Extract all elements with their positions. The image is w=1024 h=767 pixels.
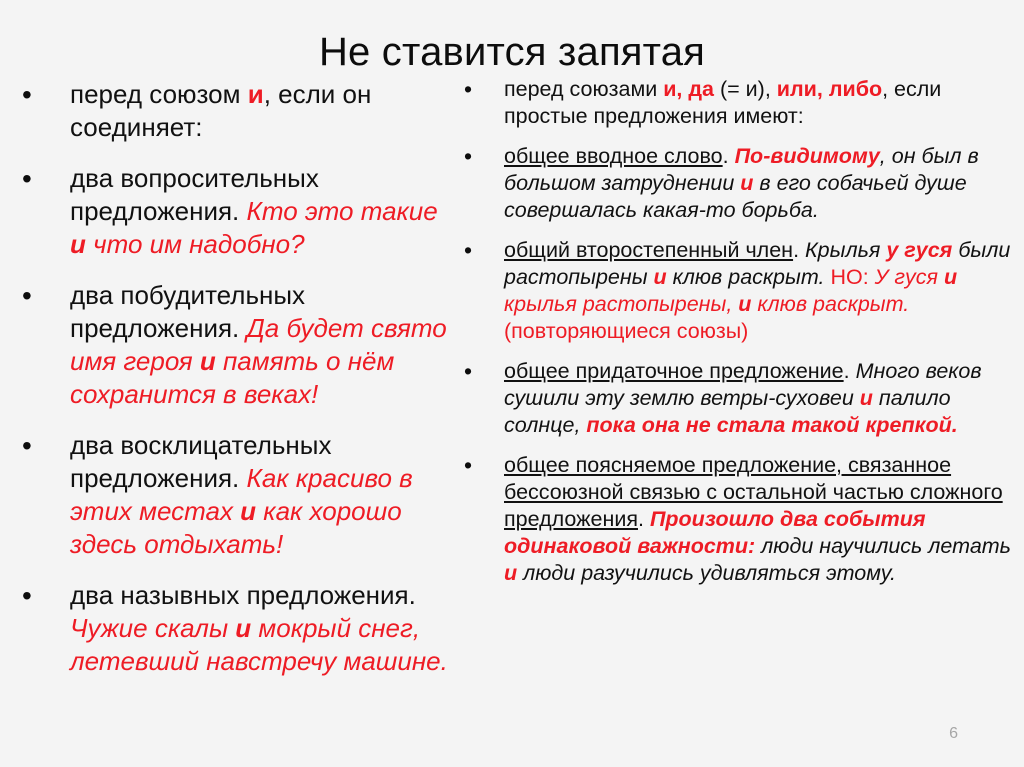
text-segment: . [638,507,650,531]
text-segment: клюв раскрыт. [751,292,909,316]
bullet-point-icon: • [14,78,70,111]
text-segment: Крылья [805,238,886,262]
text-segment: крылья растопырены, [504,292,738,316]
bullet-item: •общее придаточное предложение. Много ве… [456,358,1016,439]
text-segment: (= и), [714,77,777,101]
bullet-column-right: •перед союзами и, да (= и), или, либо, е… [456,76,1016,600]
text-segment: пока она не стала такой крепкой. [586,413,957,437]
bullet-point-icon: • [14,162,70,195]
bullet-point-icon: • [14,579,70,612]
bullet-item: •общий второстепенный член. Крылья у гус… [456,237,1016,345]
text-segment: и [653,265,666,289]
text-segment: общее придаточное предложение [504,359,844,383]
text-segment: люди разучились удивляться этому. [517,561,896,585]
text-segment: Кто это такие [247,196,438,226]
text-segment: люди научились летать [755,534,1011,558]
bullet-text: два побудительных предложения. Да будет … [70,279,458,411]
text-segment: и [70,229,86,259]
text-segment: У гуся [875,265,944,289]
bullet-item: •два побудительных предложения. Да будет… [14,279,458,411]
bullet-text: общее придаточное предложение. Много век… [504,358,1016,439]
text-segment: и [740,171,753,195]
text-segment: и [240,496,256,526]
bullet-item: •общее поясняемое предложение, связанное… [456,452,1016,587]
text-segment: и [860,386,873,410]
bullet-text: два восклицательных предложения. Как кра… [70,429,458,561]
page-number: 6 [949,725,958,743]
bullet-item: •перед союзом и, если он соединяет: [14,78,458,144]
bullet-item: •два назывных предложения. Чужие скалы и… [14,579,458,678]
text-segment: клюв раскрыт. [667,265,831,289]
bullet-item: •перед союзами и, да (= и), или, либо, е… [456,76,1016,130]
text-segment: . [723,144,735,168]
text-segment: или, либо [777,77,882,101]
text-segment: и [944,265,957,289]
bullet-point-icon: • [456,76,504,103]
bullet-text: перед союзом и, если он соединяет: [70,78,458,144]
bullet-point-icon: • [14,279,70,312]
text-segment: что им надобно? [86,229,305,259]
bullet-column-left: •перед союзом и, если он соединяет:•два … [14,78,458,696]
text-segment: и [248,79,264,109]
text-segment: и [738,292,751,316]
bullet-text: два вопросительных предложения. Кто это … [70,162,458,261]
text-segment: перед союзами [504,77,663,101]
text-segment: перед союзом [70,79,248,109]
text-segment: и, да [663,77,714,101]
bullet-text: общее поясняемое предложение, связанное … [504,452,1016,587]
text-segment: НО: [830,265,874,289]
text-segment: и [200,346,216,376]
slide: Не ставится запятая •перед союзом и, есл… [0,0,1024,767]
bullet-point-icon: • [14,429,70,462]
bullet-item: •два вопросительных предложения. Кто это… [14,162,458,261]
bullet-item: •общее вводное слово. По-видимому, он бы… [456,143,1016,224]
bullet-point-icon: • [456,237,504,264]
text-segment: По-видимому [735,144,880,168]
bullet-text: общее вводное слово. По-видимому, он был… [504,143,1016,224]
bullet-item: •два восклицательных предложения. Как кр… [14,429,458,561]
text-segment: (повторяющиеся союзы) [504,319,748,343]
bullet-point-icon: • [456,358,504,385]
text-segment: общее вводное слово [504,144,723,168]
text-segment: Чужие скалы [70,613,235,643]
bullet-point-icon: • [456,143,504,170]
text-segment: два назывных предложения. [70,580,416,610]
text-segment: у гуся [886,238,952,262]
text-segment: . [793,238,805,262]
page-title: Не ставится запятая [0,29,1024,75]
text-segment: и [235,613,251,643]
bullet-text: два назывных предложения. Чужие скалы и … [70,579,458,678]
text-segment: . [844,359,856,383]
text-segment: общий второстепенный член [504,238,793,262]
bullet-text: перед союзами и, да (= и), или, либо, ес… [504,76,1016,130]
text-segment: и [504,561,517,585]
bullet-text: общий второстепенный член. Крылья у гуся… [504,237,1016,345]
bullet-point-icon: • [456,452,504,479]
